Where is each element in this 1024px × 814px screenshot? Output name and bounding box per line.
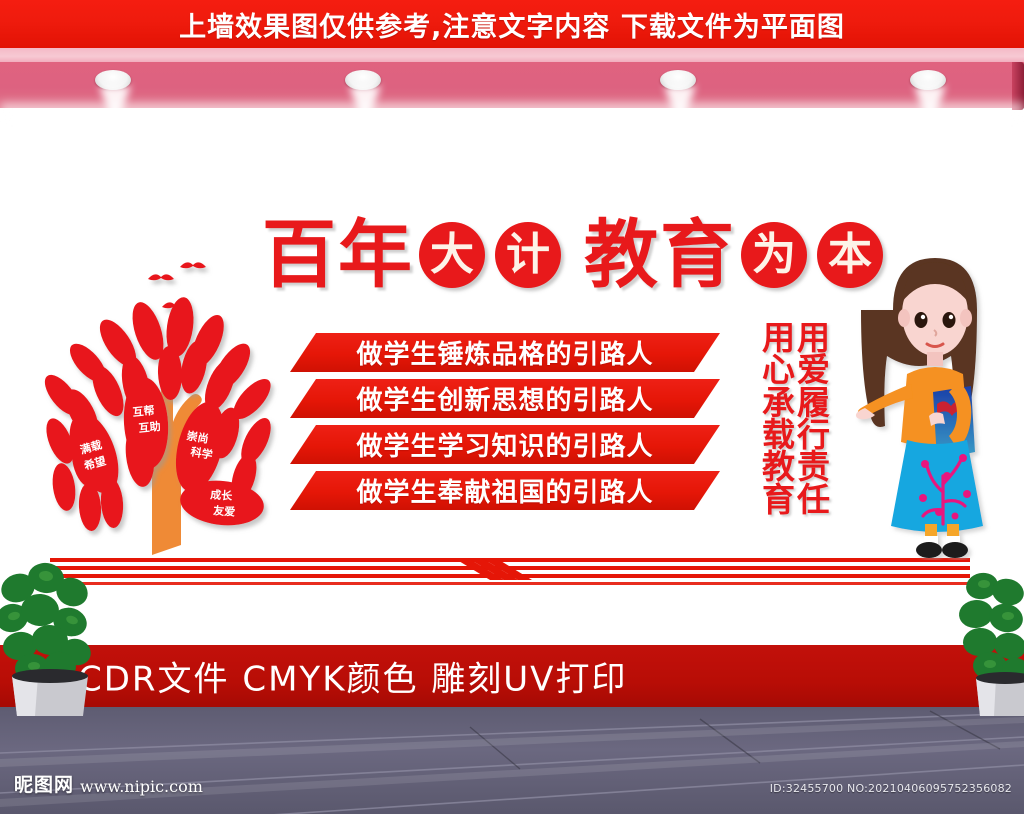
title-circle-wei-label: 为: [752, 233, 796, 277]
title-char-jiao: 教: [584, 218, 658, 292]
slogan-banner-list: 做学生锤炼品格的引路人 做学生创新思想的引路人 做学生学习知识的引路人 做学生奉…: [290, 333, 720, 517]
title-circle-da: 大: [419, 222, 485, 288]
slogan-banner-3-label: 做学生学习知识的引路人: [356, 426, 653, 463]
potted-plant-right: [946, 566, 1024, 718]
slogan-banner-1: 做学生锤炼品格的引路人: [290, 333, 720, 372]
leaf-text-4b: 友爱: [213, 503, 236, 519]
title-char-yu: 育: [660, 218, 734, 292]
shoe-right: [942, 542, 968, 558]
title-circle-wei: 为: [741, 222, 807, 288]
bottom-info-banner-label: CDR文件 CMYK颜色 雕刻UV打印: [78, 652, 627, 701]
notice-text: 上墙效果图仅供参考,注意文字内容 下载文件为平面图: [179, 5, 845, 44]
slogan-banner-2: 做学生创新思想的引路人: [290, 379, 720, 418]
title-char-nian: 年: [338, 218, 412, 292]
title-circle-ben: 本: [817, 222, 883, 288]
page-title: 百 年 大 计 教 育 为 本: [262, 218, 888, 292]
vertical-column-left: 用 心 承 载 教 育: [762, 322, 795, 516]
plant-leaves-left: [0, 561, 95, 684]
slogan-banner-4-label: 做学生奉献祖国的引路人: [356, 472, 653, 509]
floor: [0, 707, 1024, 814]
knowledge-tree: 互帮 互助 满载 希望 崇尚 科学 成长 友爱: [40, 255, 280, 555]
site-url: www.nipic.com: [80, 779, 203, 795]
slogan-banner-3: 做学生学习知识的引路人: [290, 425, 720, 464]
potted-plant-left: [0, 556, 102, 718]
top-notice-bar: 上墙效果图仅供参考,注意文字内容 下载文件为平面图: [0, 0, 1024, 48]
slogan-banner-1-label: 做学生锤炼品格的引路人: [356, 334, 653, 371]
bottom-info-banner: CDR文件 CMYK颜色 雕刻UV打印: [0, 645, 1024, 707]
title-circle-ben-label: 本: [828, 233, 872, 277]
vcol-l-c6: 育: [762, 484, 795, 516]
vertical-column-right: 用 爱 履 行 责 任: [797, 322, 830, 516]
shoe-left: [916, 542, 942, 558]
ceiling-right-cap: [1012, 62, 1024, 110]
vcol-r-c5: 责: [797, 451, 830, 483]
ceiling-top-strip: [0, 48, 1024, 62]
vcol-r-c6: 任: [797, 484, 830, 516]
title-circle-ji: 计: [495, 222, 561, 288]
vcol-l-c2: 心: [762, 354, 795, 386]
ceiling-glow: [0, 104, 1024, 122]
vcol-r-c2: 爱: [797, 354, 830, 386]
leaf-text-1b: 互助: [138, 419, 161, 435]
title-circle-da-label: 大: [430, 233, 474, 277]
leaf-text-1: 互帮: [132, 403, 155, 419]
eye-left: [915, 312, 928, 328]
slogan-banner-4: 做学生奉献祖国的引路人: [290, 471, 720, 510]
slogan-banner-2-label: 做学生创新思想的引路人: [356, 380, 653, 417]
site-name-cn: 昵图网: [14, 776, 74, 795]
plant-pot-right: [976, 672, 1024, 716]
ceiling-face: [0, 62, 1024, 108]
title-char-bai: 百: [262, 218, 336, 292]
eye-right: [943, 312, 956, 328]
asset-id-text: ID:32455700 NO:20210406095752356082: [770, 782, 1012, 795]
site-logo: 昵图网 www.nipic.com: [14, 776, 203, 795]
vertical-slogan-columns: 用 心 承 载 教 育 用 爱 履 行 责 任: [762, 322, 830, 516]
student-girl-illustration: [855, 248, 1015, 560]
title-circle-ji-label: 计: [506, 233, 550, 277]
wall-design-preview: 上墙效果图仅供参考,注意文字内容 下载文件为平面图 百 年 大 计 教 育 为: [0, 0, 1024, 814]
vcol-l-c5: 教: [762, 451, 795, 483]
decor-lines: [50, 552, 970, 592]
plant-leaves-right: [958, 570, 1024, 685]
plant-pot-left: [12, 669, 88, 716]
leaf-text-4: 成长: [210, 487, 234, 503]
